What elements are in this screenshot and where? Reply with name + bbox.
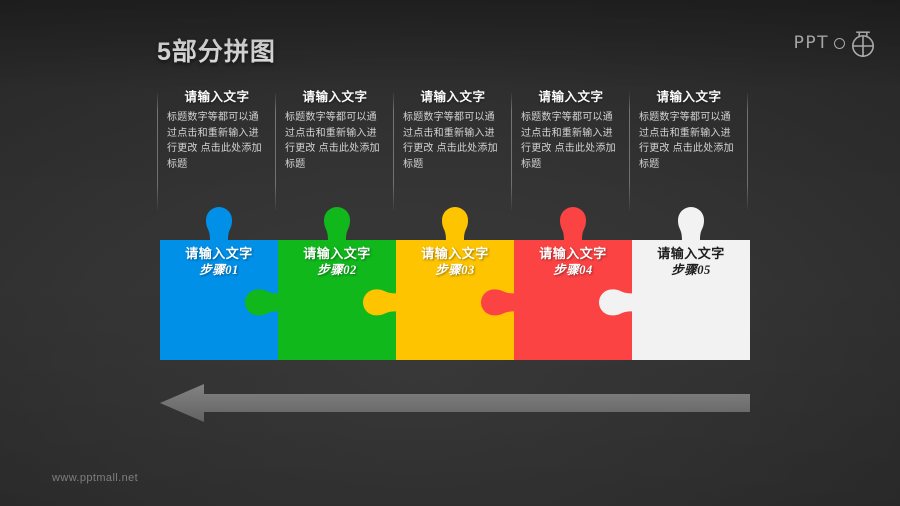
piece-top-knob [324, 207, 350, 240]
piece-top-knob [442, 207, 468, 240]
column-divider [747, 92, 748, 210]
piece-side-knob [245, 289, 278, 315]
piece-top-knob [678, 207, 704, 240]
description-column-1[interactable]: 请输入文字标题数字等都可以通过点击和重新输入进行更改 点击此处添加标题 [157, 90, 275, 212]
logo-text: PPT [794, 33, 829, 53]
description-column-2[interactable]: 请输入文字标题数字等都可以通过点击和重新输入进行更改 点击此处添加标题 [275, 90, 393, 212]
puzzle-piece-1[interactable]: 请输入文字步骤01 [160, 203, 278, 363]
arrow-shape [160, 384, 750, 422]
page-title: 5部分拼图 [157, 32, 276, 68]
column-heading: 请输入文字 [285, 90, 385, 104]
logo-circle-icon [834, 38, 845, 49]
piece-top-knob [206, 207, 232, 240]
slide-canvas: 5部分拼图 PPT 请输入文字标题数字等都可以通过点击和重新输入进行更改 点击此… [0, 0, 900, 506]
column-body-text: 标题数字等都可以通过点击和重新输入进行更改 点击此处添加标题 [639, 110, 739, 172]
piece-side-knob [363, 289, 396, 315]
column-heading: 请输入文字 [167, 90, 267, 104]
pptmall-crosshair-logo-icon [850, 28, 876, 58]
process-arrow-left [160, 383, 750, 423]
description-column-3[interactable]: 请输入文字标题数字等都可以通过点击和重新输入进行更改 点击此处添加标题 [393, 90, 511, 212]
footer-url: www.pptmall.net [52, 472, 138, 484]
piece-top-knob [560, 207, 586, 240]
piece-side-knob [599, 289, 632, 315]
puzzle-row: 请输入文字步骤05请输入文字步骤04请输入文字步骤03请输入文字步骤02请输入文… [160, 203, 750, 363]
column-body-text: 标题数字等都可以通过点击和重新输入进行更改 点击此处添加标题 [521, 110, 621, 172]
column-body-text: 标题数字等都可以通过点击和重新输入进行更改 点击此处添加标题 [285, 110, 385, 172]
piece-side-knob [481, 289, 514, 315]
description-column-4[interactable]: 请输入文字标题数字等都可以通过点击和重新输入进行更改 点击此处添加标题 [511, 90, 629, 212]
column-body-text: 标题数字等都可以通过点击和重新输入进行更改 点击此处添加标题 [403, 110, 503, 172]
column-body-text: 标题数字等都可以通过点击和重新输入进行更改 点击此处添加标题 [167, 110, 267, 172]
description-columns: 请输入文字标题数字等都可以通过点击和重新输入进行更改 点击此处添加标题请输入文字… [157, 90, 747, 212]
column-heading: 请输入文字 [521, 90, 621, 104]
brand-logo: PPT [794, 28, 876, 58]
description-column-5[interactable]: 请输入文字标题数字等都可以通过点击和重新输入进行更改 点击此处添加标题 [629, 90, 747, 212]
column-heading: 请输入文字 [639, 90, 739, 104]
column-heading: 请输入文字 [403, 90, 503, 104]
